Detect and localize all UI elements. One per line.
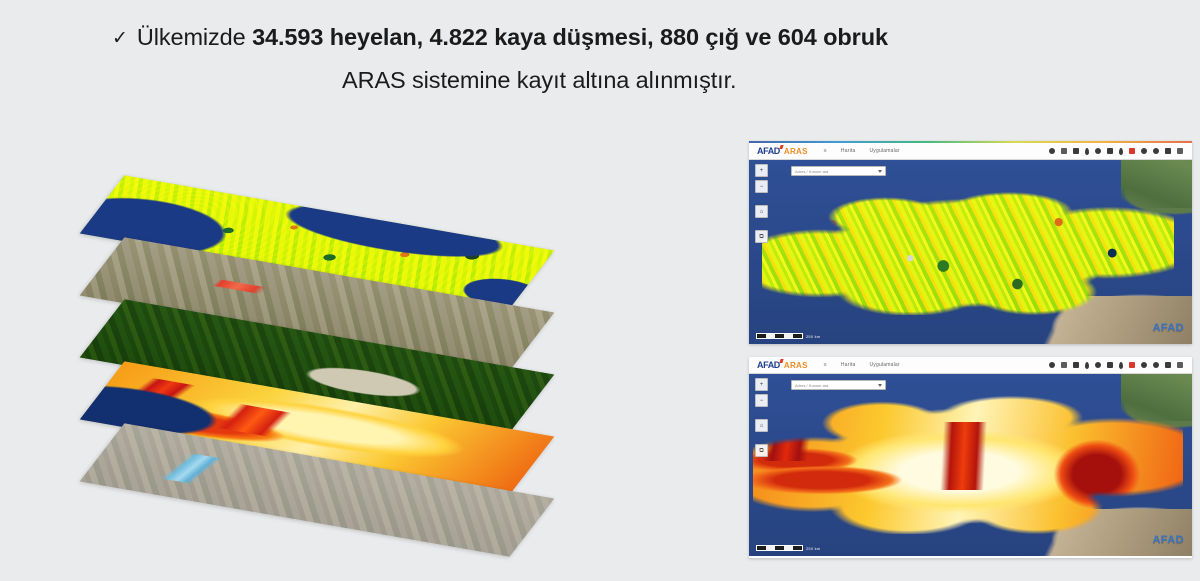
legend-icon[interactable] — [1129, 148, 1135, 154]
zoom-in-icon[interactable]: + — [755, 164, 768, 177]
brand-gradient-bar — [749, 141, 1192, 143]
map-zoom-controls[interactable]: + − ⌂ ⧉ — [755, 164, 766, 243]
measure-icon-2[interactable] — [1095, 362, 1101, 368]
map-scalebar-2: 250 km — [756, 545, 820, 551]
scalebar-label-2: 250 km — [806, 546, 820, 551]
app-logo-2[interactable]: AFAD ARAS — [754, 360, 808, 370]
scalebar-graphic-2 — [756, 545, 803, 551]
stat-landslide: 34.593 heyelan, — [252, 24, 429, 50]
stat-avalanche: 880 çığ ve — [660, 24, 778, 50]
map-search-input-2[interactable]: Adres / Konum ara — [791, 380, 886, 390]
map-canvas-landslide[interactable]: + − ⌂ ⧉ Adres / Konum ara 250 km AFAD — [749, 160, 1192, 344]
headline-line-1: ✓Ülkemizde 34.593 heyelan, 4.822 kaya dü… — [112, 22, 1060, 55]
map-search-placeholder: Adres / Konum ara — [795, 169, 828, 174]
measure-icon[interactable] — [1095, 148, 1101, 154]
share-icon[interactable] — [1153, 148, 1159, 154]
menu-item-1[interactable]: Harita — [841, 148, 856, 154]
map-scalebar: 250 km — [756, 333, 820, 339]
filter-icon-2[interactable] — [1165, 362, 1171, 368]
map-search-placeholder-2: Adres / Konum ara — [795, 383, 828, 388]
toolbar-icon-row-2 — [1049, 362, 1187, 369]
zoom-in-icon-2[interactable]: + — [755, 378, 768, 391]
app-menu-2: ≡ Harita Uygulamalar — [824, 362, 900, 368]
menu-item-2-2[interactable]: Uygulamalar — [869, 362, 899, 368]
map-search-input[interactable]: Adres / Konum ara — [791, 166, 886, 176]
home-icon-2[interactable]: ⌂ — [755, 419, 768, 432]
logo-afad-text: AFAD — [757, 146, 780, 156]
menu-item-2[interactable]: Uygulamalar — [869, 148, 899, 154]
earthquake-hazard-overlay — [753, 392, 1183, 534]
afad-watermark-2: AFAD — [1152, 534, 1184, 546]
fullscreen-icon-2[interactable]: ⧉ — [755, 444, 768, 457]
app-toolbar: AFAD ARAS ≡ Harita Uygulamalar — [749, 143, 1192, 160]
menu-item-2-0[interactable]: ≡ — [824, 362, 827, 368]
layers-icon[interactable] — [1061, 148, 1067, 154]
settings-icon-2[interactable] — [1177, 362, 1183, 368]
info-icon-2[interactable] — [1141, 362, 1147, 368]
aras-panel-landslide[interactable]: AFAD ARAS ≡ Harita Uygulamalar — [749, 141, 1192, 344]
print-icon[interactable] — [1107, 148, 1113, 154]
bookmark-icon-2[interactable] — [1119, 362, 1123, 369]
filter-icon[interactable] — [1165, 148, 1171, 154]
landslide-susceptibility-overlay — [762, 186, 1174, 315]
share-icon-2[interactable] — [1153, 362, 1159, 368]
logo-afad-text-2: AFAD — [757, 360, 780, 370]
globe-icon[interactable] — [1049, 148, 1055, 154]
toolbar-icon-row — [1049, 148, 1187, 155]
info-icon[interactable] — [1141, 148, 1147, 154]
menu-item-0[interactable]: ≡ — [824, 148, 827, 154]
fullscreen-icon[interactable]: ⧉ — [755, 230, 768, 243]
layers-icon-2[interactable] — [1061, 362, 1067, 368]
bookmark-icon[interactable] — [1119, 148, 1123, 155]
menu-item-2-1[interactable]: Harita — [841, 362, 856, 368]
stat-rockfall: 4.822 kaya düşmesi, — [429, 24, 660, 50]
basemap-icon-2[interactable] — [1073, 362, 1079, 368]
legend-icon-2[interactable] — [1129, 362, 1135, 368]
print-icon-2[interactable] — [1107, 362, 1113, 368]
logo-aras-text: ARAS — [784, 147, 808, 156]
chevron-down-icon[interactable] — [878, 170, 882, 173]
location-icon[interactable] — [1085, 148, 1089, 155]
gis-layer-stack — [88, 186, 608, 536]
afad-watermark: AFAD — [1152, 322, 1184, 334]
scalebar-label: 250 km — [806, 334, 820, 339]
zoom-out-icon-2[interactable]: − — [755, 394, 768, 407]
app-menu: ≡ Harita Uygulamalar — [824, 148, 900, 154]
check-icon: ✓ — [112, 28, 128, 49]
aras-panel-earthquake[interactable]: AFAD ARAS ≡ Harita Uygulamalar — [749, 357, 1192, 558]
basemap-icon[interactable] — [1073, 148, 1079, 154]
headline-block: ✓Ülkemizde 34.593 heyelan, 4.822 kaya dü… — [0, 22, 1060, 95]
location-icon-2[interactable] — [1085, 362, 1089, 369]
scalebar-graphic — [756, 333, 803, 339]
map-zoom-controls-2[interactable]: + − ⌂ ⧉ — [755, 378, 766, 457]
headline-line-2: ARAS sistemine kayıt altına alınmıştır. — [112, 65, 1060, 95]
settings-icon[interactable] — [1177, 148, 1183, 154]
zoom-out-icon[interactable]: − — [755, 180, 768, 193]
stat-sinkhole: 604 obruk — [778, 24, 888, 50]
logo-aras-text-2: ARAS — [784, 361, 808, 370]
globe-icon-2[interactable] — [1049, 362, 1055, 368]
map-canvas-earthquake[interactable]: + − ⌂ ⧉ Adres / Konum ara 250 km AFAD — [749, 374, 1192, 556]
home-icon[interactable]: ⌂ — [755, 205, 768, 218]
app-logo[interactable]: AFAD ARAS — [754, 146, 808, 156]
chevron-down-icon-2[interactable] — [878, 384, 882, 387]
app-toolbar-2: AFAD ARAS ≡ Harita Uygulamalar — [749, 357, 1192, 374]
headline-prefix: Ülkemizde — [137, 24, 252, 50]
